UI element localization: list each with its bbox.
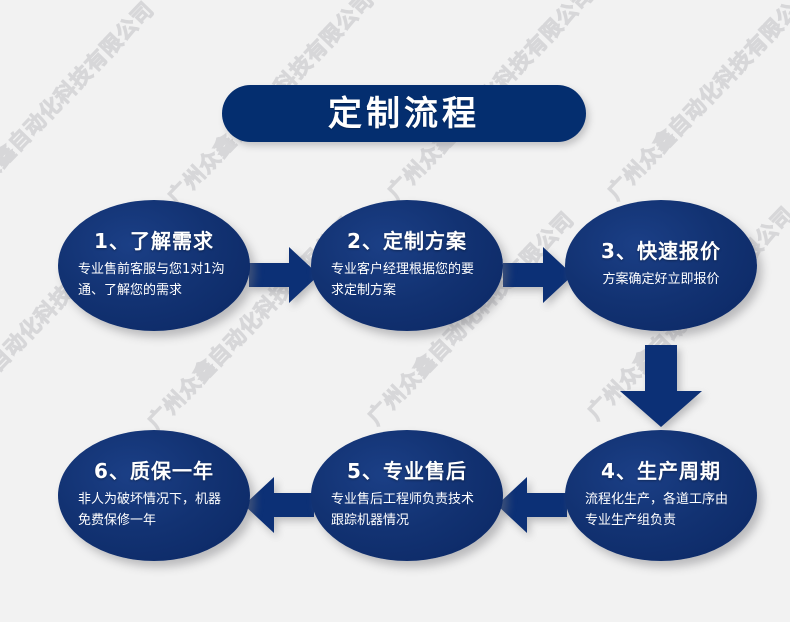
flow-step-3[interactable]: 3、快速报价 方案确定好立即报价 <box>565 200 757 331</box>
flow-step-1-desc: 专业售前客服与您1对1沟通、了解您的需求 <box>78 259 230 302</box>
flow-step-4[interactable]: 4、生产周期 流程化生产，各道工序由专业生产组负责 <box>565 430 757 561</box>
flow-step-3-desc: 方案确定好立即报价 <box>602 269 719 290</box>
flow-step-2-desc: 专业客户经理根据您的要求定制方案 <box>331 259 483 302</box>
flow-step-5[interactable]: 5、专业售后 专业售后工程师负责技术跟踪机器情况 <box>311 430 503 561</box>
flow-step-6-desc: 非人为破坏情况下，机器免费保修一年 <box>78 489 230 532</box>
watermark-text: 广州众鑫自动化科技有限公司 <box>600 0 790 206</box>
flow-step-2-title: 2、定制方案 <box>347 230 467 252</box>
arrow-left-icon <box>497 477 567 533</box>
arrow-right-icon <box>249 247 319 303</box>
flow-step-2[interactable]: 2、定制方案 专业客户经理根据您的要求定制方案 <box>311 200 503 331</box>
page-title: 定制流程 <box>328 97 480 131</box>
flow-step-1[interactable]: 1、了解需求 专业售前客服与您1对1沟通、了解您的需求 <box>58 200 250 331</box>
arrow-down-icon <box>620 345 702 427</box>
arrow-right-icon <box>503 247 573 303</box>
flow-step-5-title: 5、专业售后 <box>347 460 467 482</box>
flow-step-4-desc: 流程化生产，各道工序由专业生产组负责 <box>585 489 737 532</box>
flow-step-1-title: 1、了解需求 <box>94 230 214 252</box>
watermark-text: 广州众鑫自动化科技有限公司 <box>0 0 190 1</box>
flowchart-canvas: 广州众鑫自动化科技有限公司 广州众鑫自动化科技有限公司 广州众鑫自动化科技有限公… <box>0 0 790 622</box>
flow-step-5-desc: 专业售后工程师负责技术跟踪机器情况 <box>331 489 483 532</box>
arrow-left-icon <box>244 477 314 533</box>
flow-step-6[interactable]: 6、质保一年 非人为破坏情况下，机器免费保修一年 <box>58 430 250 561</box>
watermark-text: 广州众鑫自动化科技有限公司 <box>0 0 160 221</box>
flow-step-3-title: 3、快速报价 <box>601 240 721 262</box>
flow-step-6-title: 6、质保一年 <box>94 460 214 482</box>
flow-step-4-title: 4、生产周期 <box>601 460 721 482</box>
page-title-banner: 定制流程 <box>222 85 586 142</box>
